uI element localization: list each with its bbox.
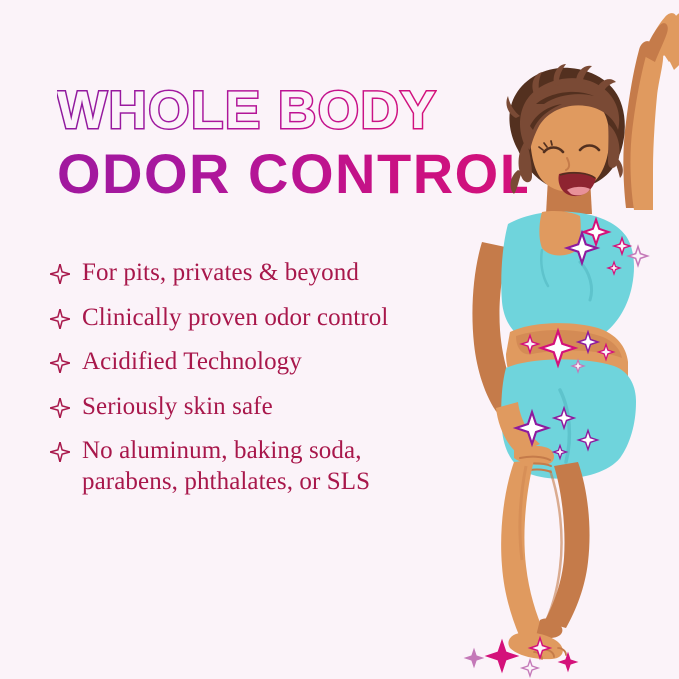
list-item-label: Clinically proven odor control [82,303,388,334]
product-callout-canvas: WHOLE BODY WHOLE BODY ODOR CONTROL For p… [0,0,679,679]
list-item: Acidified Technology [50,347,490,378]
legs [501,460,589,642]
list-item-label: No aluminum, baking soda, parabens, phth… [82,436,457,497]
four-point-sparkle-icon [50,442,70,462]
list-item-label: Acidified Technology [82,347,302,378]
list-item: Clinically proven odor control [50,303,490,334]
four-point-sparkle-icon [50,398,70,418]
list-item-label: For pits, privates & beyond [82,258,359,289]
four-point-sparkle-icon [50,264,70,284]
woman-illustration [430,0,679,679]
four-point-sparkle-icon [50,353,70,373]
list-item: Seriously skin safe [50,392,490,423]
feature-bullet-list: For pits, privates & beyond Clinically p… [50,258,490,511]
raised-arm [623,12,679,210]
headline-line-1-fill: WHOLE BODY [57,84,437,138]
four-point-sparkle-icon [50,309,70,329]
list-item: No aluminum, baking soda, parabens, phth… [50,436,490,497]
list-item: For pits, privates & beyond [50,258,490,289]
list-item-label: Seriously skin safe [82,392,273,423]
